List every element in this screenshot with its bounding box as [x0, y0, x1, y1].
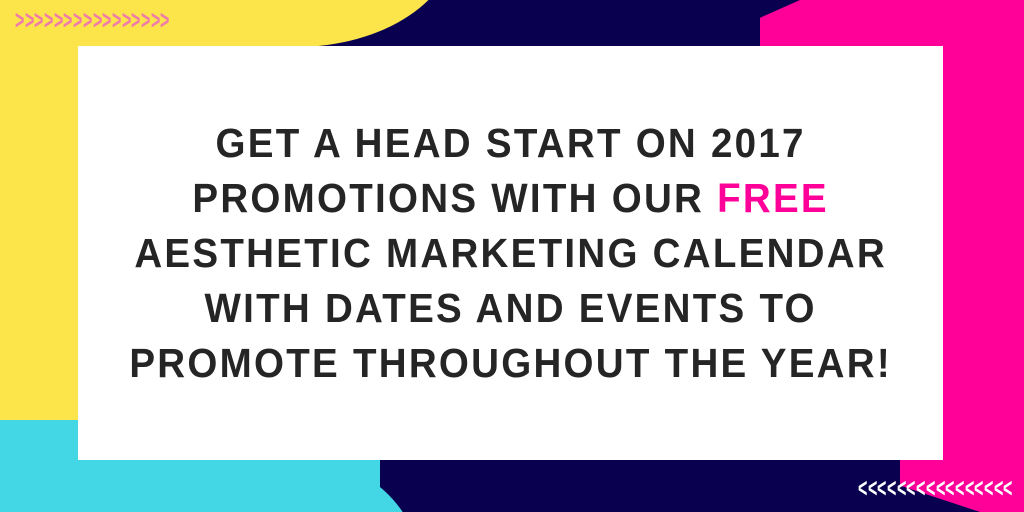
- left-yellow-block: [0, 0, 79, 425]
- right-magenta-block: [942, 0, 1024, 512]
- headline-line-4: WITH DATES AND EVENTS TO: [129, 281, 892, 336]
- headline-accent-free: FREE: [717, 175, 829, 221]
- headline-line-5: PROMOTE THROUGHOUT THE YEAR!: [129, 336, 892, 391]
- headline-line-2: PROMOTIONS WITH OUR FREE: [129, 171, 892, 226]
- headline: GET A HEAD START ON 2017 PROMOTIONS WITH…: [118, 116, 903, 391]
- content-card: GET A HEAD START ON 2017 PROMOTIONS WITH…: [78, 46, 943, 460]
- headline-line-3: AESTHETIC MARKETING CALENDAR: [129, 226, 892, 281]
- promo-graphic-canvas: >>>>>>>>>>>>>>>> <<<<<<<<<<<<<<<< GET A …: [0, 0, 1024, 512]
- headline-line-1: GET A HEAD START ON 2017: [129, 116, 892, 171]
- headline-line-2-prefix: PROMOTIONS WITH OUR: [192, 175, 717, 221]
